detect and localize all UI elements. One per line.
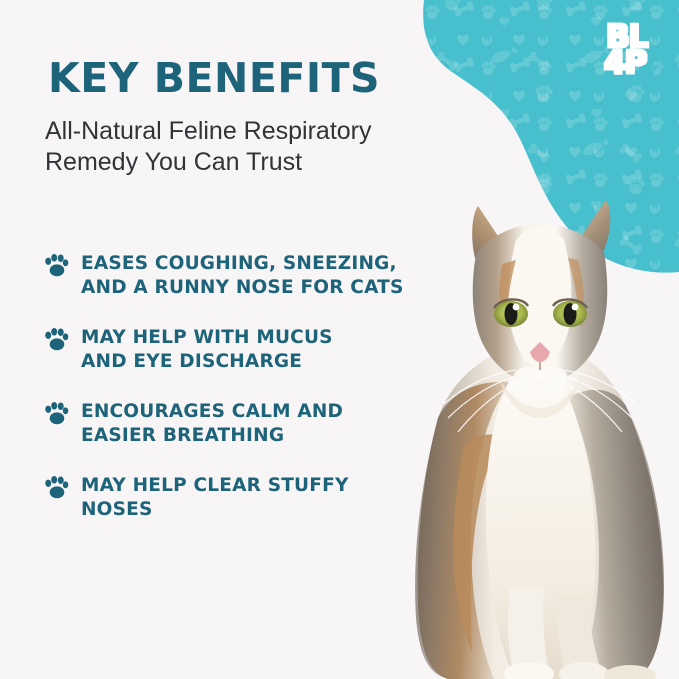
list-item: Eases coughing, sneezing, and a runny no… [44, 252, 464, 300]
page-title: KEY BENEFITS [48, 54, 380, 102]
list-item-label: May help clear stuffy noses [81, 474, 349, 522]
paw-icon [44, 401, 69, 426]
list-item-label: Eases coughing, sneezing, and a runny no… [81, 252, 404, 300]
logo-text-bottom: 4P [604, 48, 646, 79]
paw-icon [642, 62, 657, 77]
list-item: Encourages calm and easier breathing [44, 400, 464, 448]
paw-icon [44, 327, 69, 352]
list-item-label: Encourages calm and easier breathing [81, 400, 343, 448]
benefits-list: Eases coughing, sneezing, and a runny no… [44, 252, 464, 548]
cat-muzzle-left [514, 367, 542, 385]
list-item-label: May help with mucus and eye discharge [81, 326, 333, 374]
infographic-canvas: BL 4P [0, 0, 679, 679]
paw-icon [44, 253, 69, 278]
page-subtitle: All-Natural Feline Respiratory Remedy Yo… [45, 116, 372, 178]
list-item: May help with mucus and eye discharge [44, 326, 464, 374]
paw-icon [44, 475, 69, 500]
brand-logo: BL 4P [604, 22, 662, 84]
list-item: May help clear stuffy noses [44, 474, 464, 522]
